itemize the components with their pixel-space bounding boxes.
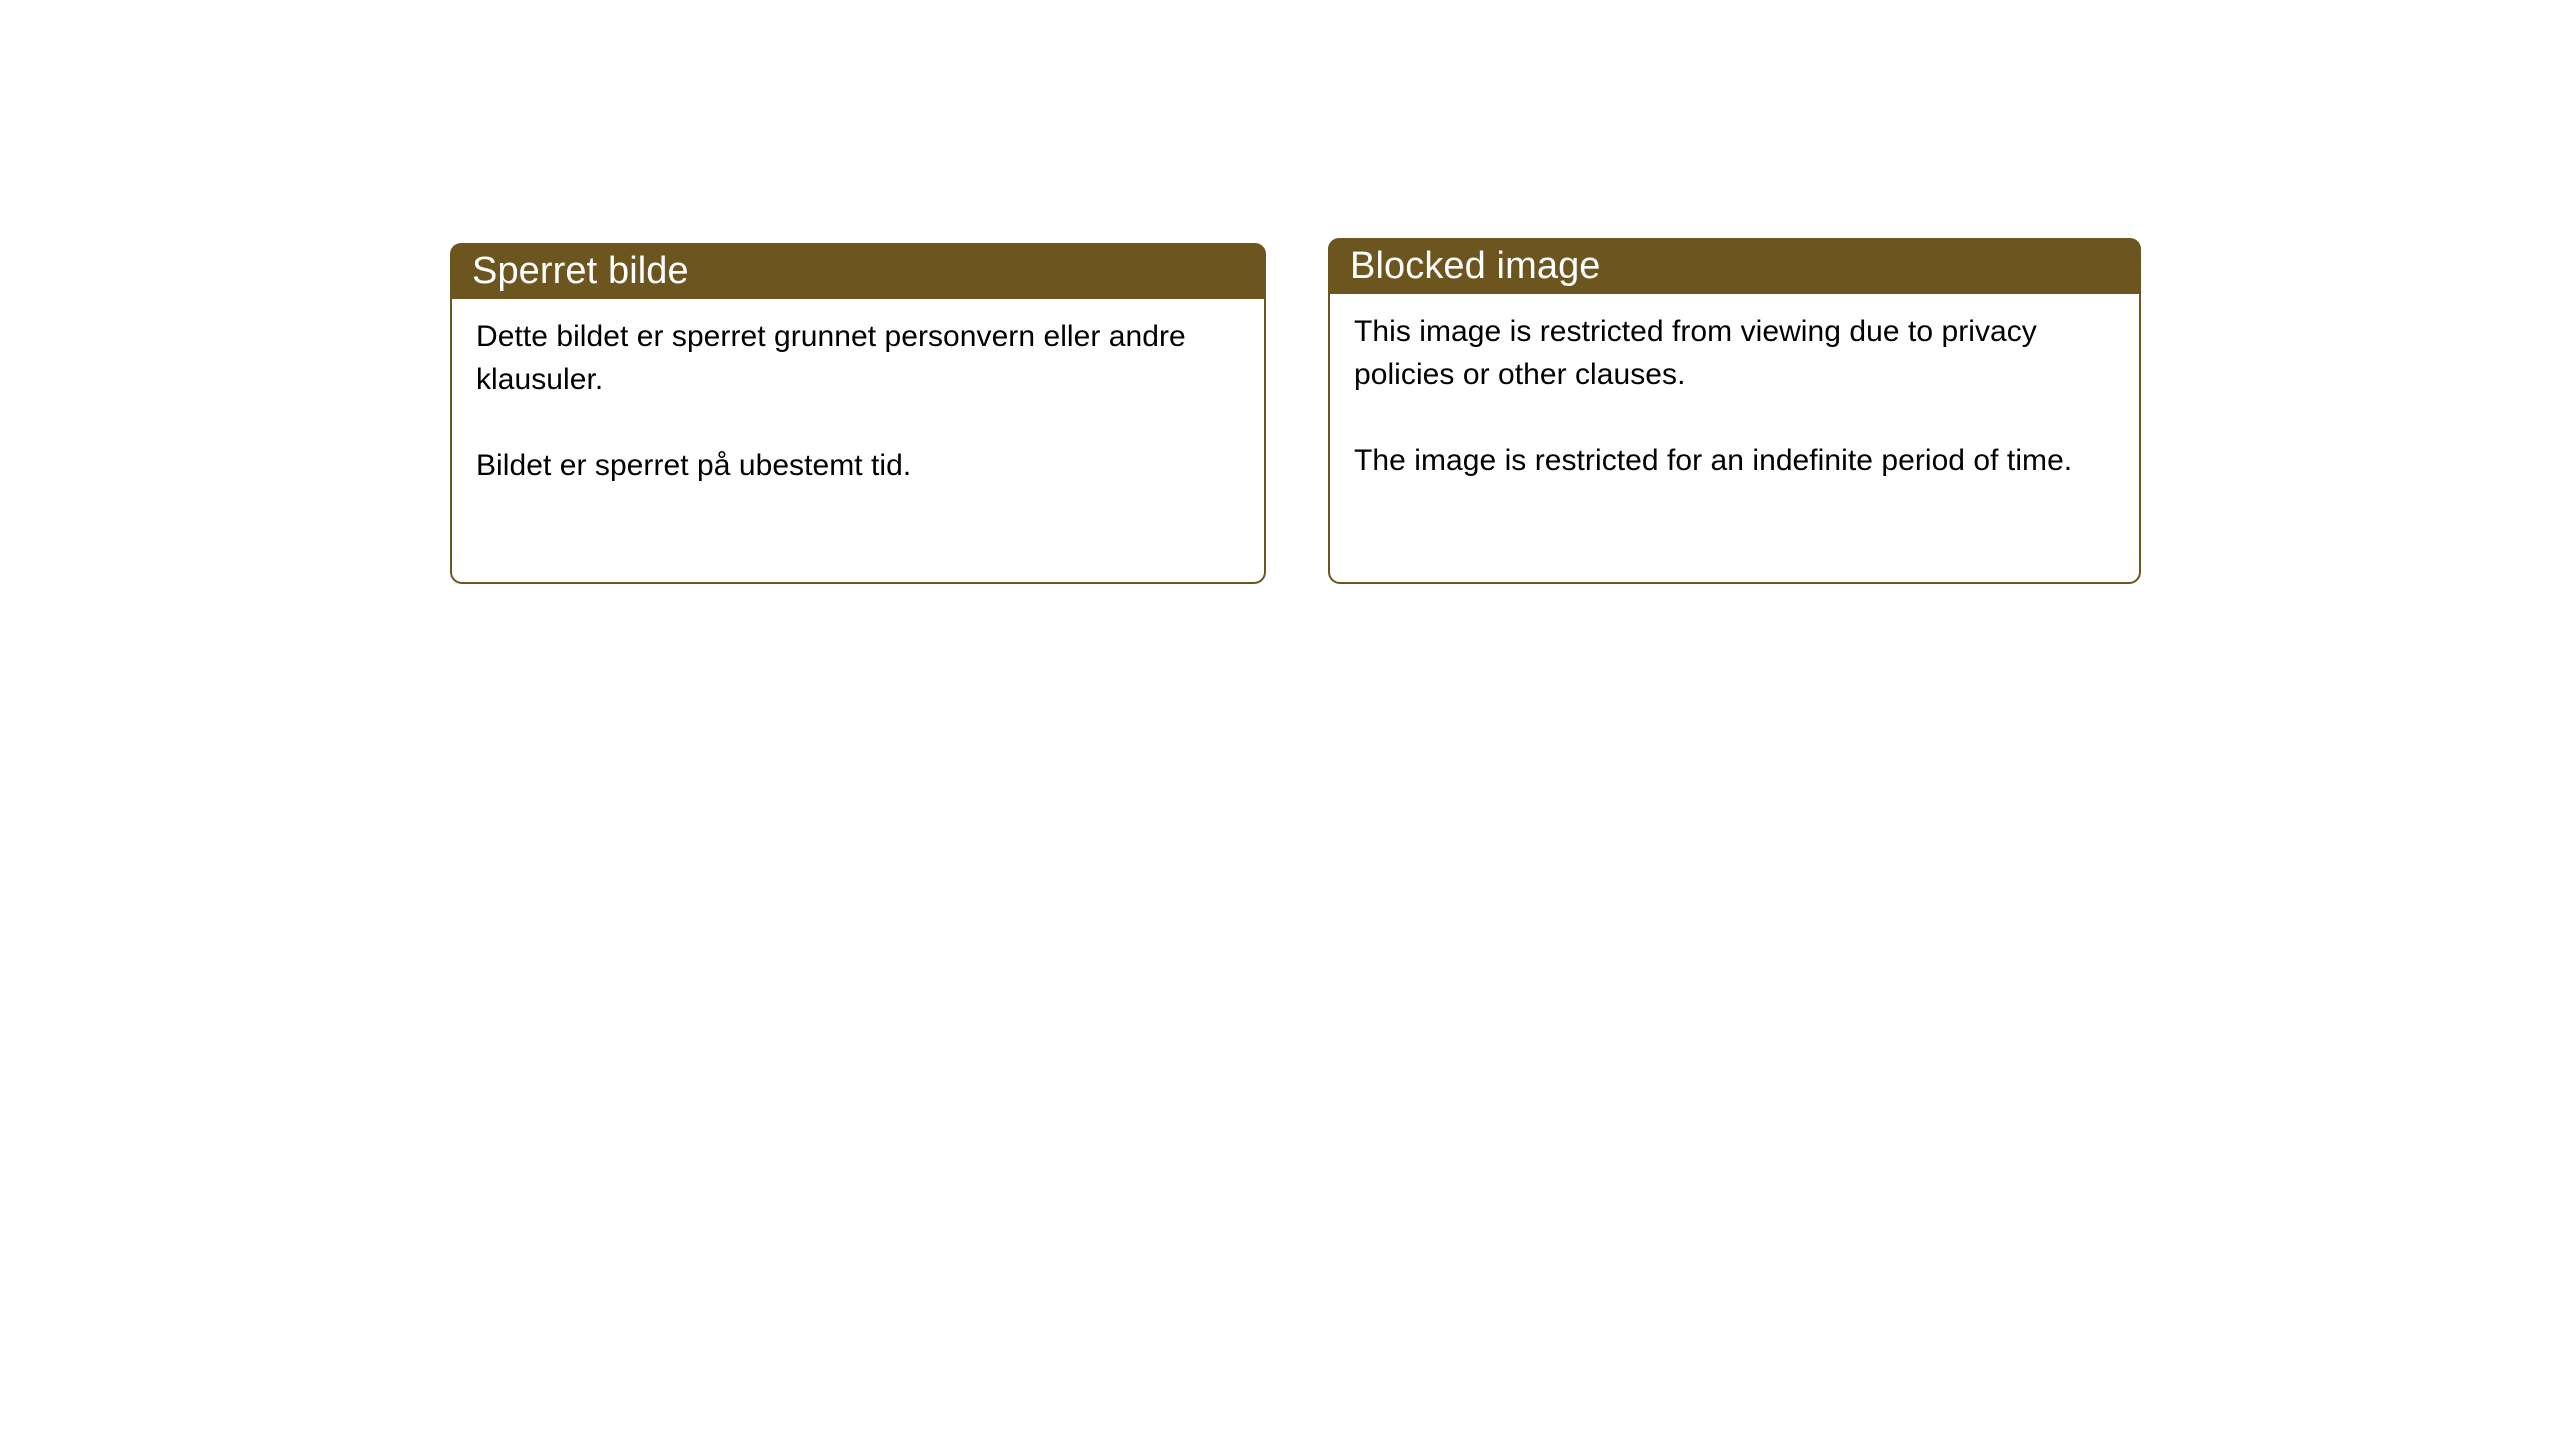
- card-title-norwegian: Sperret bilde: [472, 249, 689, 293]
- card-body-norwegian: Dette bildet er sperret grunnet personve…: [450, 299, 1266, 584]
- card-body-english: This image is restricted from viewing du…: [1328, 294, 2141, 584]
- card-paragraph-privacy-norwegian: Dette bildet er sperret grunnet personve…: [476, 315, 1240, 401]
- card-header-english: Blocked image: [1328, 238, 2141, 294]
- blocked-image-notice-card-norwegian: Sperret bilde Dette bildet er sperret gr…: [450, 243, 1266, 584]
- card-paragraph-duration-norwegian: Bildet er sperret på ubestemt tid.: [476, 444, 1240, 487]
- blocked-image-notice-card-english: Blocked image This image is restricted f…: [1328, 238, 2141, 584]
- card-paragraph-privacy-english: This image is restricted from viewing du…: [1354, 310, 2115, 396]
- page-root: Sperret bilde Dette bildet er sperret gr…: [0, 0, 2560, 1440]
- card-title-english: Blocked image: [1350, 244, 1601, 288]
- card-header-norwegian: Sperret bilde: [450, 243, 1266, 299]
- card-paragraph-duration-english: The image is restricted for an indefinit…: [1354, 439, 2115, 482]
